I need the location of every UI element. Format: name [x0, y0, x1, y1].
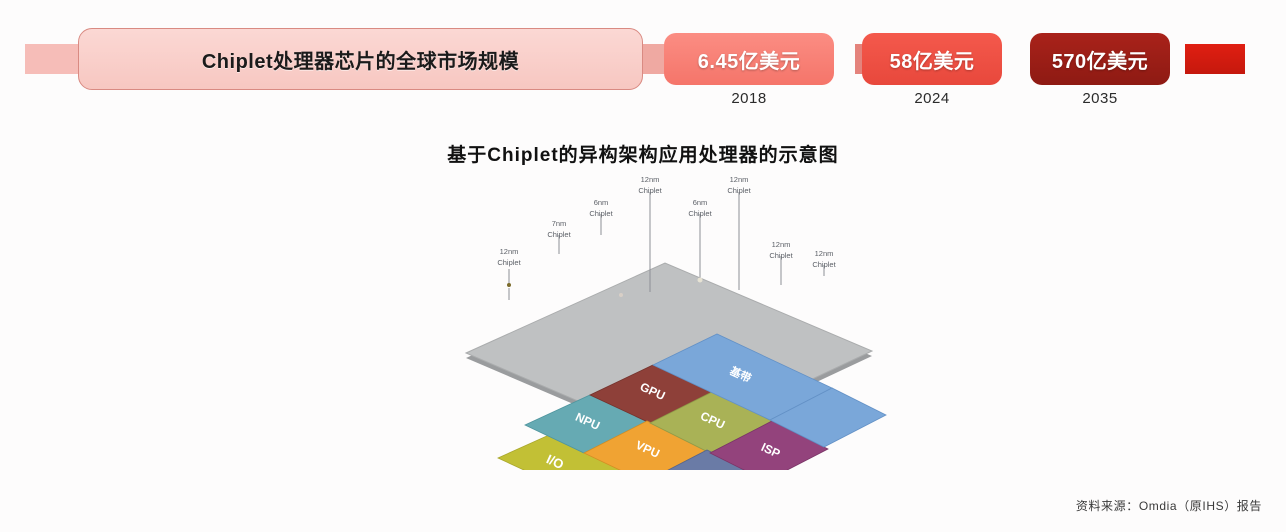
callout-4-node: 6nm: [693, 198, 708, 207]
milestone-value-2024: 58亿美元: [862, 33, 1002, 85]
milestone-value-text: 6.45亿美元: [698, 45, 800, 74]
callout-2-unit: Chiplet: [589, 209, 613, 218]
milestone-year-2018: 2018: [664, 90, 834, 107]
timeline-track-end: [1185, 44, 1245, 74]
callout-5-unit: Chiplet: [727, 186, 751, 195]
callout-4: 6nm Chiplet: [688, 198, 712, 283]
milestone-value-2018: 6.45亿美元: [664, 33, 834, 85]
callout-4-unit: Chiplet: [688, 209, 712, 218]
callout-3-unit: Chiplet: [638, 186, 662, 195]
callout-2-node: 6nm: [594, 198, 609, 207]
source-attribution: 资料来源：Omdia（原IHS）报告: [1076, 497, 1262, 514]
callout-7-node: 12nm: [815, 249, 834, 258]
callout-6-node: 12nm: [772, 240, 791, 249]
callout-0: 12nm Chiplet: [497, 247, 521, 287]
milestone-year-2035: 2035: [1030, 90, 1170, 107]
callout-1: 7nm Chiplet: [547, 219, 571, 254]
milestone-value-text: 58亿美元: [890, 45, 975, 74]
callout-2: 6nm Chiplet: [589, 198, 623, 297]
callout-6: 12nm Chiplet: [769, 240, 793, 285]
callout-0-node: 12nm: [500, 247, 519, 256]
timeline-title-box: Chiplet处理器芯片的全球市场规模: [78, 28, 643, 90]
milestone-year-2024: 2024: [862, 90, 1002, 107]
callout-1-unit: Chiplet: [547, 230, 571, 239]
callout-3-node: 12nm: [641, 175, 660, 184]
diagram-title: 基于Chiplet的异构架构应用处理器的示意图: [0, 140, 1286, 167]
chiplet-architecture-diagram: I/O NPU GPU VPU CPU 存储 ISP 基带: [0, 170, 1286, 470]
milestone-value-text: 570亿美元: [1052, 45, 1148, 74]
callout-7-unit: Chiplet: [812, 260, 836, 269]
market-size-timeline: Chiplet处理器芯片的全球市场规模 6.45亿美元 58亿美元 570亿美元…: [0, 0, 1286, 120]
timeline-title-text: Chiplet处理器芯片的全球市场规模: [202, 45, 519, 74]
milestone-value-2035: 570亿美元: [1030, 33, 1170, 85]
callout-1-node: 7nm: [552, 219, 567, 228]
callout-7: 12nm Chiplet: [812, 249, 836, 276]
callout-5-node: 12nm: [730, 175, 749, 184]
callout-5: 12nm Chiplet: [727, 175, 751, 290]
callout-0-unit: Chiplet: [497, 258, 521, 267]
callout-6-unit: Chiplet: [769, 251, 793, 260]
